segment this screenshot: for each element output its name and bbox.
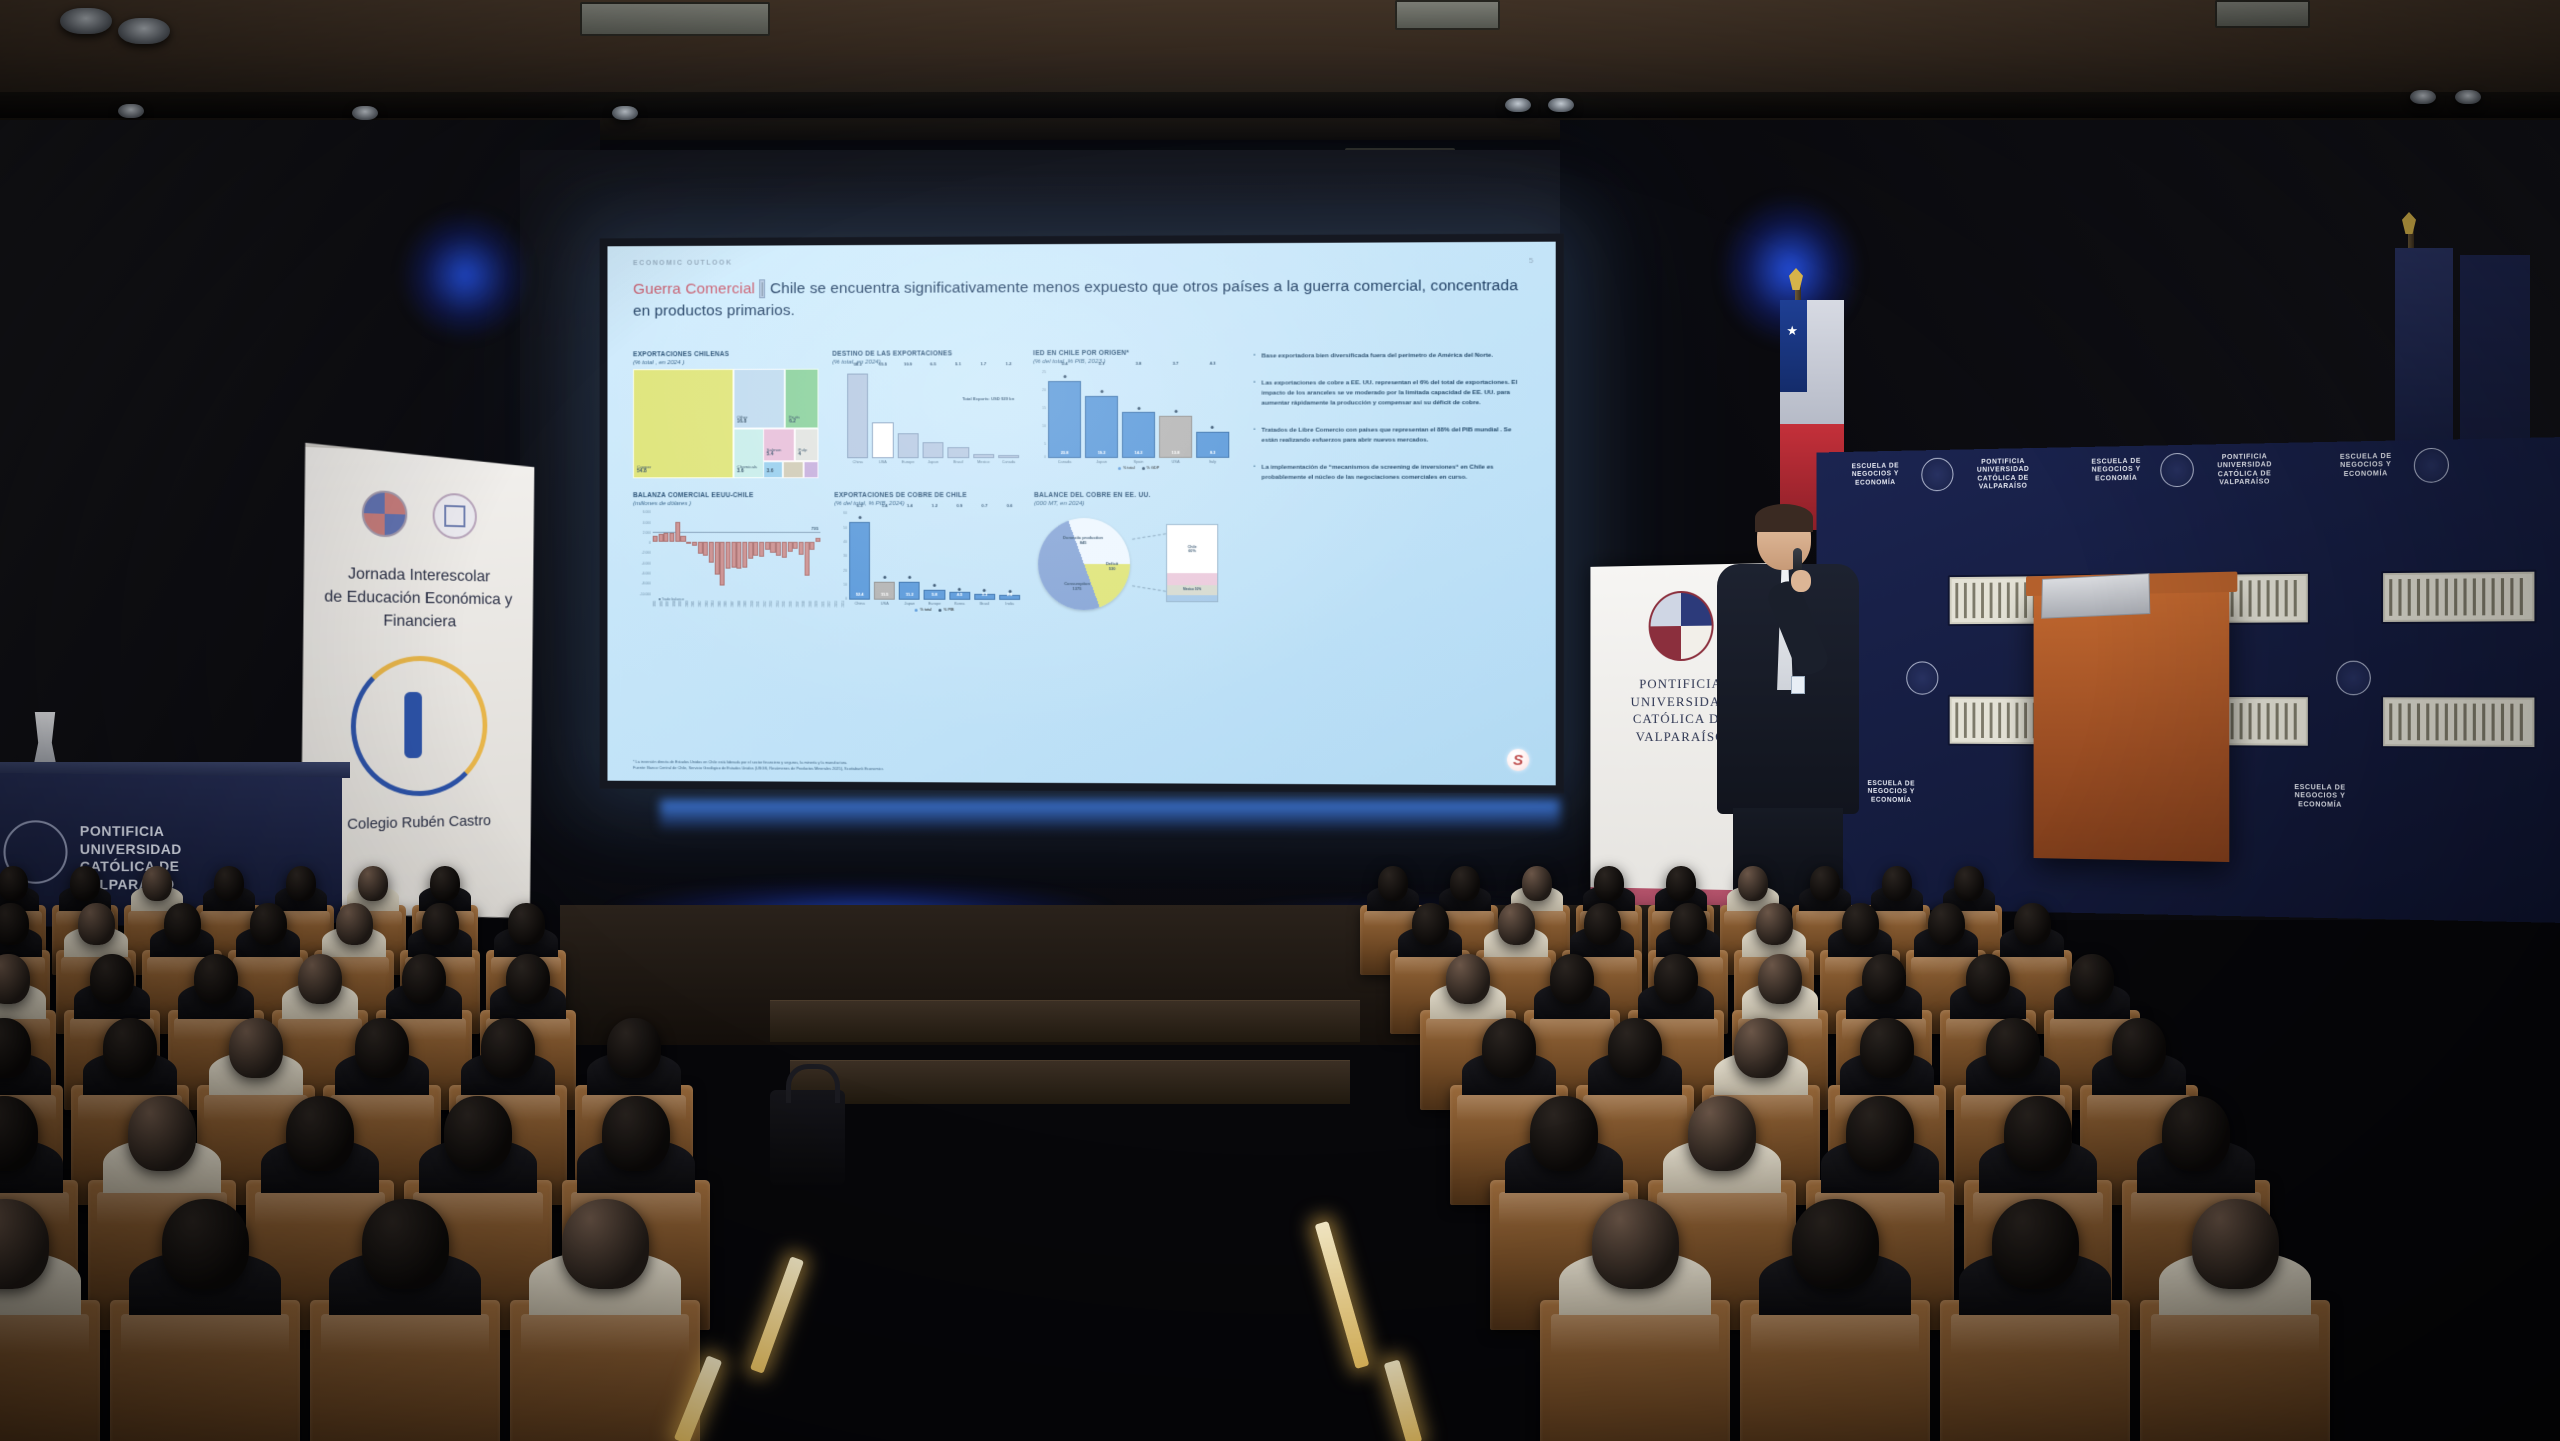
audience-head (2004, 1096, 2072, 1171)
x-label: 1997 (667, 601, 670, 607)
y-tick: 0 (649, 541, 651, 545)
treemap-label: Salmon5.4 (767, 447, 782, 458)
audience-head (2112, 1018, 2166, 1078)
audience-head (128, 1096, 196, 1171)
bar-value: 5.8 (932, 592, 938, 597)
aisle-light (1315, 1221, 1370, 1369)
bar-group: 1.2 5.8 (924, 510, 945, 600)
plot-area: 6.3 52.4 1.4 (849, 510, 1020, 600)
bar-value: 8.3 (1210, 450, 1216, 455)
slide-title-highlight: Guerra Comercial (633, 280, 755, 297)
audience-head (1498, 903, 1535, 945)
bullet-text: Las exportaciones de cobre a EE. UU. rep… (1262, 378, 1527, 409)
x-label: 2002 (699, 601, 702, 607)
audience-head (1882, 866, 1912, 901)
ceiling (0, 0, 2560, 140)
bar: 19.2 (1085, 396, 1118, 458)
aisle-light (1384, 1359, 1423, 1441)
series2-value: 4.3 (1210, 361, 1216, 424)
bar-highlight: 13.8 (1159, 416, 1192, 458)
backdrop-school-logo: ESCUELA DE NEGOCIOS Y ECONOMÍA (1843, 462, 1908, 488)
bar: 14.2 (1122, 412, 1155, 458)
x-label: 2014 (777, 601, 780, 607)
chart-subtitle: (millones de dólares ) (633, 501, 820, 508)
trade-bar (681, 510, 686, 593)
bar-chart: 60 50 40 30 20 10 0 6.3 (834, 510, 1020, 614)
x-label: 2000 (687, 601, 690, 607)
bar-group: 4.3 8.3 (1196, 368, 1229, 458)
audience-head (1654, 954, 1698, 1004)
audience-head (1550, 954, 1594, 1004)
trade-bar (742, 510, 747, 593)
bar-value: 6.5 (930, 362, 936, 443)
trade-bar (664, 510, 669, 593)
bar-group: 0.7 3.3 (974, 510, 995, 600)
audience-head (336, 903, 373, 945)
series2-marker (858, 516, 861, 519)
backdrop-university-logo: PONTIFICIA UNIVERSIDAD CATÓLICA DE VALPA… (1965, 458, 2042, 492)
bar-group: 6.3 52.4 (849, 510, 870, 600)
treemap-tile-misc (804, 461, 819, 479)
chart-row-top: EXPORTACIONES CHILENAS (% total , en 202… (633, 350, 1229, 479)
treemap-label: Copper54.8 (637, 465, 651, 476)
bar-value: 14.2 (1135, 450, 1143, 455)
bar-value: 4.5 (957, 592, 963, 597)
bar-value: 52.4 (856, 592, 864, 597)
trade-bar (714, 510, 719, 593)
bar-value: 1.2 (1006, 361, 1012, 455)
slide-eyebrow: ECONOMIC OUTLOOK (633, 256, 1533, 267)
breakdown-segment-chile: Chile60% (1167, 525, 1217, 572)
x-label: 1996 (661, 601, 664, 607)
ceiling-panel (1395, 0, 1500, 30)
ceiling-spotlight (118, 104, 144, 118)
treemap-tile-wine: 3.6 (763, 461, 783, 479)
x-label: 2011 (758, 602, 761, 608)
globe-walker-icon (351, 655, 487, 797)
backdrop-school-logo: ESCUELA DE NEGOCIOS Y ECONOMÍA (2082, 458, 2150, 484)
slide-header: ECONOMIC OUTLOOK 5 Guerra Comercial | Ch… (633, 256, 1533, 323)
y-tick: 60 (843, 511, 847, 515)
x-label: 2004 (712, 601, 715, 607)
y-axis: 25 20 15 10 5 0 (1033, 368, 1047, 458)
audience-head (250, 903, 287, 945)
series2-marker (908, 576, 911, 579)
ceiling-spotlight (2410, 90, 2436, 104)
chart-exportaciones-chilenas: EXPORTACIONES CHILENAS (% total , en 202… (633, 351, 818, 479)
bar (973, 454, 994, 459)
y-tick: 25 (1042, 370, 1046, 374)
audience-head (1592, 1199, 1679, 1289)
chart-title: EXPORTACIONES DE COBRE DE CHILE (834, 492, 1020, 500)
x-label: 1998 (674, 601, 677, 607)
speaker-hand (1791, 570, 1811, 592)
x-label: 2020 (816, 602, 819, 608)
banner-seals (315, 488, 522, 541)
x-label: 2016 (790, 602, 793, 608)
chart-balanza-comercial: BALANZA COMERCIAL EEUU-CHILE (millones d… (633, 492, 820, 622)
x-label: Canada (1048, 459, 1081, 464)
bar-group: 5.1 19.2 (1085, 368, 1118, 458)
audience-head (1758, 954, 1802, 1004)
audience-head (481, 1018, 535, 1078)
audience-head (1734, 1018, 1788, 1078)
audience-head (1608, 1018, 1662, 1078)
series2-marker (1174, 410, 1177, 413)
ceiling-spotlight (612, 106, 638, 120)
plot-area: 38.2 15.5 (847, 368, 1019, 458)
ceiling-spotlight (2455, 90, 2481, 104)
bar: 2.5 (999, 595, 1020, 600)
audience-head (422, 903, 459, 945)
chart-title: BALANCE DEL COBRE EN EE. UU. (1034, 492, 1229, 500)
bar-value: 3.3 (982, 592, 988, 597)
trade-bar (658, 510, 663, 593)
x-label: 2018 (803, 602, 806, 608)
slide-page-number: 5 (1529, 256, 1534, 265)
audience-head (286, 1096, 354, 1171)
audience-head (358, 866, 388, 901)
x-label: 2012 (764, 601, 767, 607)
trade-bar (815, 510, 820, 594)
trade-bar (737, 510, 742, 593)
bar: 5.8 (924, 589, 945, 600)
bar-group: 1.4 11.2 (899, 510, 920, 600)
ceiling-spotlight (352, 106, 378, 120)
trade-bar (810, 510, 815, 594)
flag-star-icon: ★ (1786, 323, 1798, 339)
x-label: Japan (899, 601, 920, 606)
seat (0, 1300, 100, 1441)
audience-head (1738, 866, 1768, 901)
y-tick: -4.000 (642, 561, 651, 565)
x-label: China (847, 459, 868, 464)
ceiling-spotlight (60, 8, 112, 34)
plot-area: 735 (653, 510, 821, 594)
y-tick: -2.000 (642, 551, 651, 555)
bullet-item: • Las exportaciones de cobre a EE. UU. r… (1253, 378, 1526, 409)
presentation-slide: ECONOMIC OUTLOOK 5 Guerra Comercial | Ch… (607, 242, 1555, 786)
audience-head (2192, 1199, 2279, 1289)
bar-value: 38.2 (854, 362, 862, 373)
y-tick: 10 (843, 583, 847, 587)
series2-marker (1211, 426, 1214, 429)
trade-bar (793, 510, 798, 594)
seat (2140, 1300, 2330, 1441)
bar (998, 455, 1019, 458)
x-label: USA (874, 601, 895, 606)
bar-value: 2.5 (1007, 592, 1013, 597)
bar (847, 373, 868, 458)
series2-value: 1.4 (882, 504, 888, 574)
ceiling-beam (0, 92, 2560, 118)
campus-building-icon (2381, 570, 2537, 624)
bar (922, 442, 943, 458)
bar-value: 5.1 (955, 362, 961, 447)
bar-value: 10.9 (904, 362, 912, 434)
series2-value: 6.3 (857, 504, 863, 515)
stage-blue-light (400, 210, 530, 340)
chart-balance-cobre-eeuu: BALANCE DEL COBRE EN EE. UU. (000 MT, en… (1034, 492, 1229, 623)
chart-subtitle: (000 MT, en 2024) (1034, 500, 1229, 507)
trade-bar (782, 510, 787, 594)
trade-bar (748, 510, 753, 594)
breakdown-segment-canada (1167, 573, 1217, 585)
x-label: Europe (897, 459, 918, 464)
x-label: 2015 (784, 602, 787, 608)
bar-group: 1.4 11.5 (874, 510, 895, 600)
audience-head (1688, 1096, 1756, 1171)
y-tick: 50 (843, 526, 847, 530)
audience-head (602, 1096, 670, 1171)
slide-bullets: • Base exportadora bien diversificada fu… (1253, 351, 1526, 501)
audience-head (1954, 866, 1984, 901)
seat (110, 1300, 300, 1441)
audience-head (562, 1199, 649, 1289)
bar-group: 38.2 (847, 369, 868, 459)
treemap-label: Chemicals3.6 (737, 465, 757, 476)
breakdown-bar: Chile60% Mexico 10% (1166, 524, 1218, 602)
pie-slice-label: Domestic production845 (1060, 536, 1106, 546)
x-label: Mexico (973, 459, 994, 464)
ceiling-spotlight (1505, 98, 1531, 112)
bullet-item: • Tratados de Libre Comercio con países … (1253, 425, 1526, 446)
treemap-tile-copper: Copper54.8 (633, 369, 733, 478)
y-tick: 5 (1044, 442, 1046, 446)
pucv-seal-icon (2336, 661, 2371, 696)
audience-head (1966, 954, 2010, 1004)
bar-value: 11.2 (906, 592, 914, 597)
backdrop-school-logo: ESCUELA DE NEGOCIOS Y ECONOMÍA (2280, 784, 2361, 810)
trade-bar (703, 510, 708, 593)
series2-value: 3.8 (1136, 361, 1142, 404)
slide-charts: EXPORTACIONES CHILENAS (% total , en 202… (633, 350, 1229, 623)
x-label: Canada (998, 459, 1019, 464)
x-label: Spain (1122, 459, 1155, 464)
pie-chart: Domestic production845 Deficit530 Consum… (1034, 510, 1224, 622)
audience-head (1412, 903, 1449, 945)
bullet-item: • Base exportadora bien diversificada fu… (1253, 351, 1526, 362)
audience-head (0, 866, 28, 901)
banner-title: Jornada Interescolar de Educación Económ… (315, 562, 522, 635)
series2-marker (1100, 390, 1103, 393)
trade-bar (692, 510, 697, 593)
x-label: 2013 (771, 601, 774, 607)
trade-bar (697, 510, 702, 593)
bullet-marker: • (1253, 351, 1255, 361)
x-label: Europe (924, 601, 945, 606)
y-tick: 20 (1042, 388, 1046, 392)
trade-bar (675, 510, 680, 593)
bar-value: 1.7 (980, 361, 986, 453)
trade-bar (709, 510, 714, 593)
bar (948, 447, 969, 459)
bar-group: 1.7 (973, 368, 994, 458)
audience-head (298, 954, 342, 1004)
bar-group: 3.7 13.8 (1159, 368, 1192, 458)
projection-screen: ECONOMIC OUTLOOK 5 Guerra Comercial | Ch… (600, 234, 1564, 794)
audience-head (1530, 1096, 1598, 1171)
audience-head (2014, 903, 2051, 945)
chart-row-bottom: BALANZA COMERCIAL EEUU-CHILE (millones d… (633, 492, 1229, 623)
audience-head (607, 1018, 661, 1078)
chart-ied-por-origen: IED EN CHILE POR ORIGEN* (% del total, %… (1033, 350, 1229, 479)
bar: 11.2 (899, 581, 920, 600)
audience-head (362, 1199, 449, 1289)
speaker-badge (1791, 676, 1805, 694)
column-chart: 6.000 4.000 2.000 0 -2.000 -4.000 -6.000… (633, 510, 820, 616)
trade-bar (776, 510, 781, 594)
bullet-marker: • (1253, 426, 1255, 446)
bar-group: 6.5 (922, 369, 943, 459)
y-tick: 4.000 (643, 520, 651, 524)
audience-head (444, 1096, 512, 1171)
audience-head (1666, 866, 1696, 901)
series2-value: 0.9 (957, 503, 963, 585)
bar-group: 15.5 (872, 369, 893, 459)
audience-head (0, 903, 29, 945)
audience-head (355, 1018, 409, 1078)
seat (510, 1300, 700, 1441)
y-tick: 20 (843, 569, 847, 573)
bar-chart: 25 20 15 10 5 0 5.4 (1033, 368, 1229, 472)
y-tick: 10 (1042, 424, 1046, 428)
bar: 23.8 (1048, 381, 1081, 458)
y-tick: -6.000 (642, 572, 651, 576)
audience-head (229, 1018, 283, 1078)
audience-head (1928, 903, 1965, 945)
bar: 4.5 (949, 592, 970, 600)
trade-bar (669, 510, 674, 593)
bar-value: 19.2 (1098, 450, 1106, 455)
pucv-seal-icon (1921, 458, 1953, 492)
y-tick: 15 (1042, 406, 1046, 410)
legend-item: % total (1118, 466, 1135, 470)
bar-group: 0.6 2.5 (999, 510, 1020, 600)
x-label: Italy (1196, 459, 1229, 464)
trade-bar (765, 510, 770, 594)
audience-head (1842, 903, 1879, 945)
school-crest-icon (362, 490, 407, 538)
bullet-item: • La implementación de “mecanismos de sc… (1253, 463, 1526, 483)
x-label: Japan (922, 459, 943, 464)
series2-marker (1063, 375, 1066, 378)
x-label: 1995 (654, 601, 657, 607)
y-tick: 2.000 (643, 531, 651, 535)
bar-highlight: 11.5 (874, 581, 895, 600)
backdrop-school-logo: ESCUELA DE NEGOCIOS Y ECONOMÍA (2330, 453, 2401, 480)
banner-footer: Colegio Rubén Castro (315, 811, 522, 833)
flag-canton (1780, 300, 1807, 392)
trade-bar (787, 510, 792, 594)
treemap-label: 3.6 (767, 470, 774, 476)
speaker (1705, 508, 1875, 908)
bar-group: 3.8 14.2 (1122, 368, 1155, 458)
trade-bar (799, 510, 804, 594)
bar (897, 433, 918, 458)
audience-head (1810, 866, 1840, 901)
seat (1940, 1300, 2130, 1441)
x-label: 2021 (823, 602, 826, 608)
chart-legend: % total % GDP (1048, 466, 1229, 470)
trade-bar (804, 510, 809, 594)
audience-head (1846, 1096, 1914, 1171)
bar-group: 5.1 (948, 369, 969, 459)
series2-marker (883, 576, 886, 579)
screen-edge-glow (660, 800, 1560, 830)
audience-head (402, 954, 446, 1004)
seat (1540, 1300, 1730, 1441)
audience-head (1594, 866, 1624, 901)
audience-head (2070, 954, 2114, 1004)
podium (2034, 588, 2230, 862)
bar-value: 15.5 (879, 362, 887, 423)
x-label: USA (1159, 459, 1192, 464)
y-tick: 0 (1044, 455, 1046, 459)
y-tick: 6.000 (643, 510, 651, 514)
audience-head (214, 866, 244, 901)
plot-area: 5.4 23.8 5.1 (1048, 368, 1229, 458)
y-tick: -10.000 (640, 592, 651, 596)
slide-title-divider: | (759, 279, 765, 298)
x-label: 2009 (745, 601, 748, 607)
pie-slice-label: Consumption1375 (1050, 582, 1104, 592)
bar: 52.4 (849, 522, 870, 600)
bullet-marker: • (1253, 379, 1255, 409)
chart-title: BALANZA COMERCIAL EEUU-CHILE (633, 492, 820, 500)
laptop (2041, 573, 2150, 619)
series2-value: 3.7 (1173, 361, 1179, 408)
ceiling-spotlight (118, 18, 170, 44)
legend-item: % GDP (1142, 466, 1160, 470)
speaker-hair (1755, 504, 1813, 532)
pucv-seal-icon (1906, 661, 1938, 694)
bar-group: 5.4 23.8 (1048, 368, 1081, 458)
audience-head (286, 866, 316, 901)
audience-head (1756, 903, 1793, 945)
series2-value: 0.6 (1007, 503, 1013, 589)
bar-group: 10.9 (897, 369, 918, 459)
treemap-label: Other16.8 (737, 414, 748, 425)
x-label: Brasil (974, 601, 995, 606)
campus-building-icon (2381, 695, 2537, 749)
x-label: 2022 (829, 602, 832, 608)
series2-value: 5.1 (1099, 361, 1105, 388)
bar-group: 1.2 (998, 368, 1019, 458)
audience-head (90, 954, 134, 1004)
legend-item: % total (915, 608, 932, 612)
seat (310, 1300, 500, 1441)
audience-head (1522, 866, 1552, 901)
ceiling-panel (580, 2, 770, 36)
bar-group: 0.9 4.5 (949, 510, 970, 600)
audience-head (1992, 1199, 2079, 1289)
bullet-text: Tratados de Libre Comercio con países qu… (1262, 425, 1527, 446)
x-label: 2005 (719, 601, 722, 607)
audience-head (1862, 954, 1906, 1004)
breakdown-segment-mexico: Mexico 10% (1167, 585, 1217, 596)
series2-marker (958, 587, 961, 590)
last-value-label: 735 (811, 526, 818, 531)
x-label: 2001 (693, 601, 696, 607)
stage-step (770, 1000, 1360, 1042)
y-tick: 0 (845, 596, 847, 600)
breakdown-segment-other (1167, 595, 1217, 601)
treemap-tile-iron (783, 461, 803, 479)
x-label: 2019 (810, 602, 813, 608)
scotiabank-logo-icon: S (1507, 749, 1529, 771)
x-label: 2007 (732, 601, 735, 607)
